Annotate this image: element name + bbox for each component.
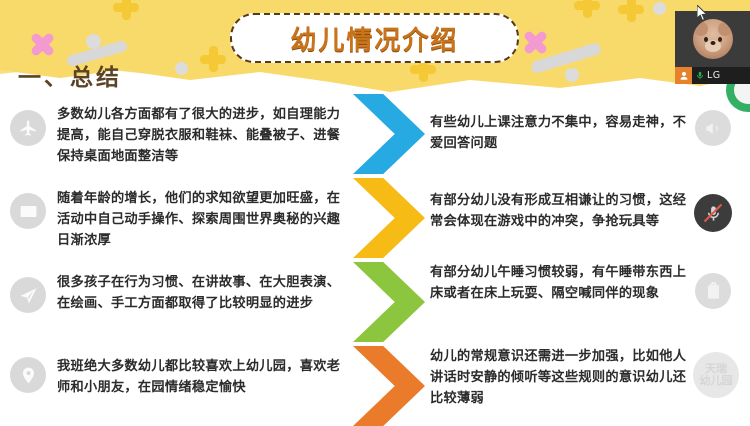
section-heading: 一、总结: [18, 58, 122, 92]
list-item: 有部分幼儿没有形成互相谦让的习惯，这经常会体现在游戏中的冲突，争抢玩具等: [430, 190, 692, 232]
chevron-arrow-1: [353, 94, 425, 174]
list-item: 有部分幼儿午睡习惯较弱，有午睡带东西上床或者在床上玩耍、隔空喊同伴的现象: [430, 262, 692, 304]
webcam-label-bar: LG: [675, 67, 750, 84]
list-item: 幼儿的常规意识还需进一步加强，比如他人讲话时安静的倾听等这些规则的意识幼儿还比较…: [430, 346, 692, 409]
webcam-tile[interactable]: LG: [675, 11, 750, 84]
paper-plane-icon: [10, 277, 46, 313]
page-title: 幼儿情况介绍: [290, 20, 458, 57]
avatar-eye-right: [718, 37, 722, 42]
list-item: 随着年龄的增长，他们的求知欲望更加旺盛，在活动中自己动手操作、探索周围世界奥秘的…: [57, 188, 345, 251]
watermark-line-2: 幼儿园: [700, 375, 733, 387]
microphone-icon: [692, 70, 707, 81]
chevron-arrow-2: [353, 178, 425, 258]
envelope-icon: [10, 193, 46, 229]
list-item: 多数幼儿各方面都有了很大的进步，如自理能力提高，能自己穿脱衣服和鞋袜、能叠被子、…: [57, 104, 345, 167]
megaphone-icon: [695, 110, 731, 146]
watermark-logo: 天瑞 幼儿园: [693, 352, 739, 398]
avatar-ear-left: [694, 22, 708, 36]
chevron-arrow-3: [353, 262, 425, 342]
list-item: 有些幼儿上课注意力不集中，容易走神，不爱回答问题: [430, 112, 692, 154]
airplane-icon: [10, 110, 46, 146]
slide-title-pill: 幼儿情况介绍: [230, 13, 519, 63]
mic-muted-icon[interactable]: [694, 194, 732, 232]
avatar-eye-left: [704, 37, 708, 42]
list-item: 很多孩子在行为习惯、在讲故事、在大胆表演、在绘画、手工方面都取得了比较明显的进步: [57, 272, 345, 314]
person-icon: [675, 67, 692, 84]
avatar-ear-right: [718, 22, 732, 36]
presentation-slide: 幼儿情况介绍 一、总结 多数幼儿各方面都有了很大的进步，如自理能力提高，能自己穿…: [0, 0, 750, 426]
mouse-cursor: [697, 5, 709, 22]
avatar: [693, 19, 733, 59]
chevron-arrow-4: [353, 346, 425, 426]
location-pin-icon: [10, 357, 46, 393]
list-item: 我班绝大多数幼儿都比较喜欢上幼儿园，喜欢老师和小朋友，在园情绪稳定愉快: [57, 356, 345, 398]
avatar-nose: [710, 41, 715, 45]
participant-name: LG: [707, 70, 720, 81]
clipboard-icon: [695, 273, 731, 309]
